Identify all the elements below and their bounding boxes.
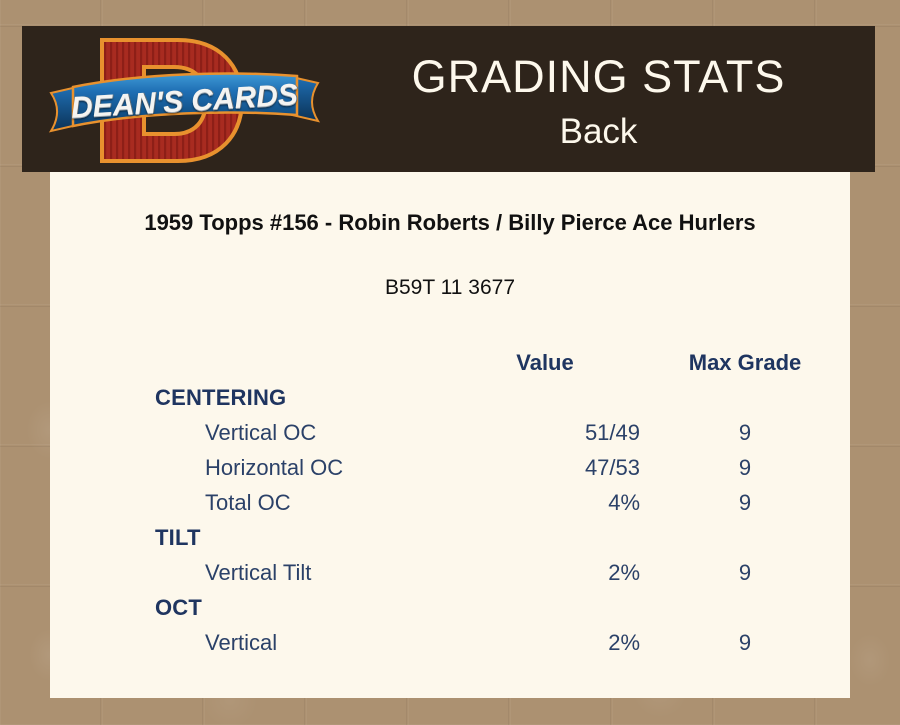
card-title: 1959 Topps #156 - Robin Roberts / Billy …: [90, 208, 810, 238]
stat-label: Vertical Tilt: [50, 555, 450, 590]
stat-label: Vertical OC: [50, 415, 450, 450]
table-row: Vertical OC51/499: [50, 415, 850, 450]
stat-label: Horizontal OC: [50, 450, 450, 485]
table-row: Horizontal OC47/539: [50, 450, 850, 485]
stat-value: 47/53: [450, 450, 640, 485]
stat-max-grade: [640, 520, 850, 555]
stat-value: [450, 520, 640, 555]
stat-value: 2%: [450, 555, 640, 590]
section-label: CENTERING: [50, 380, 450, 415]
stat-value: 51/49: [450, 415, 640, 450]
table-header-row: Value Max Grade: [50, 345, 850, 380]
header-bar: DEAN'S CARDS GRADING STATS Back: [22, 26, 875, 172]
grading-stats-table: Value Max Grade CENTERINGVertical OC51/4…: [50, 345, 850, 660]
stat-max-grade: 9: [640, 625, 850, 660]
section-header-row: CENTERING: [50, 380, 850, 415]
table-header: Value Max Grade: [50, 345, 850, 380]
section-header-row: TILT: [50, 520, 850, 555]
stat-value: 2%: [450, 625, 640, 660]
stat-max-grade: 9: [640, 415, 850, 450]
table-body: CENTERINGVertical OC51/499Horizontal OC4…: [50, 380, 850, 660]
table-row: Total OC4%9: [50, 485, 850, 520]
deans-cards-logo[interactable]: DEAN'S CARDS: [47, 28, 322, 172]
stat-value: [450, 380, 640, 415]
section-header-row: OCT: [50, 590, 850, 625]
column-header-max-grade: Max Grade: [640, 345, 850, 380]
stat-value: 4%: [450, 485, 640, 520]
section-label: TILT: [50, 520, 450, 555]
card-code: B59T 11 3677: [90, 277, 810, 298]
page-title: GRADING STATS: [322, 54, 875, 99]
stat-max-grade: 9: [640, 450, 850, 485]
stat-value: [450, 590, 640, 625]
stat-label: Total OC: [50, 485, 450, 520]
logo-ribbon-icon: [47, 71, 322, 133]
content-panel: 1959 Topps #156 - Robin Roberts / Billy …: [50, 172, 850, 698]
column-header-value: Value: [450, 345, 640, 380]
section-label: OCT: [50, 590, 450, 625]
stat-max-grade: 9: [640, 555, 850, 590]
column-header-category: [50, 345, 450, 380]
grading-stats-page: DEAN'S CARDS GRADING STATS Back 1959 Top…: [0, 0, 900, 725]
stat-max-grade: [640, 380, 850, 415]
stat-max-grade: 9: [640, 485, 850, 520]
table-row: Vertical2%9: [50, 625, 850, 660]
stat-max-grade: [640, 590, 850, 625]
stat-label: Vertical: [50, 625, 450, 660]
page-subtitle: Back: [322, 114, 875, 149]
table-row: Vertical Tilt2%9: [50, 555, 850, 590]
